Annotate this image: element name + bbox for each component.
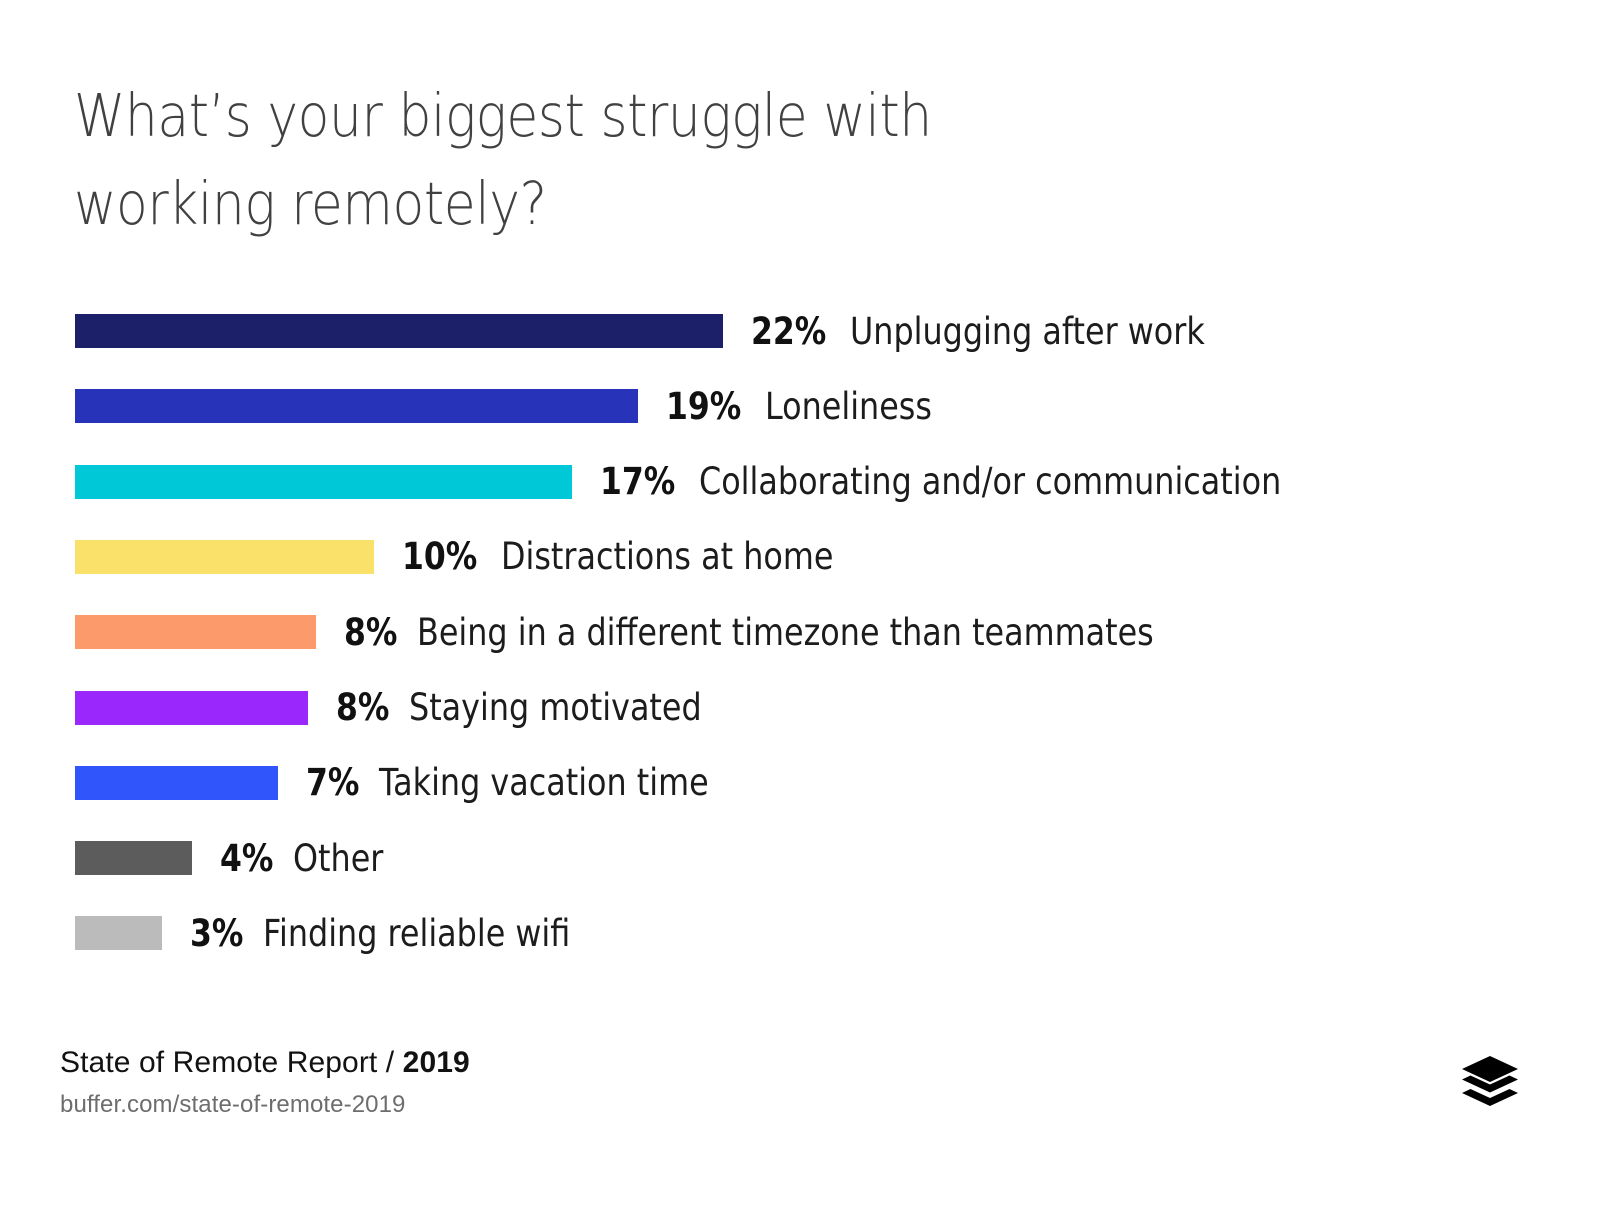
bar-category-label: Being in a different timezone than teamm… — [417, 611, 1154, 654]
bar-fill — [75, 841, 192, 875]
report-name: State of Remote Report / 2019 — [60, 1046, 960, 1080]
bar-chart-plot-area: 22%Unplugging after work19%Loneliness17%… — [0, 0, 1600, 1208]
bar-fill — [75, 314, 723, 348]
footer: State of Remote Report / 2019 buffer.com… — [60, 1046, 960, 1119]
bar-value-label: 3% — [190, 912, 243, 955]
bar-fill — [75, 389, 638, 423]
bar-category-label: Loneliness — [765, 385, 932, 428]
bar-category-label: Unplugging after work — [850, 310, 1205, 353]
bar-value-label: 17% — [600, 460, 675, 503]
bar-row: 7%Taking vacation time — [75, 766, 762, 800]
bar-row: 4%Other — [75, 841, 398, 875]
bar-row: 3%Finding reliable wifi — [75, 916, 620, 950]
bar-value-label: 8% — [336, 686, 389, 729]
bar-row: 22%Unplugging after work — [75, 314, 1262, 348]
report-year: 2019 — [403, 1046, 470, 1079]
bar-category-label: Taking vacation time — [379, 761, 709, 804]
bar-value-label: 8% — [344, 611, 397, 654]
bar-category-label: Finding reliable wifi — [263, 912, 570, 955]
report-url[interactable]: buffer.com/state-of-remote-2019 — [60, 1091, 960, 1119]
bar-row: 8%Being in a different timezone than tea… — [75, 615, 1274, 649]
chart-canvas: What’s your biggest struggle with workin… — [0, 0, 1600, 1208]
bar-value-label: 22% — [751, 310, 826, 353]
bar-fill — [75, 615, 316, 649]
bar-value-label: 7% — [306, 761, 359, 804]
report-name-prefix: State of Remote Report / — [60, 1046, 403, 1079]
bar-row: 8%Staying motivated — [75, 691, 749, 725]
bar-category-label: Collaborating and/or communication — [699, 460, 1281, 503]
bar-row: 19%Loneliness — [75, 389, 959, 423]
bar-row: 17%Collaborating and/or communication — [75, 465, 1376, 499]
bar-fill — [75, 916, 162, 950]
bar-value-label: 19% — [666, 385, 741, 428]
bar-row: 10%Distractions at home — [75, 540, 887, 574]
bar-fill — [75, 465, 572, 499]
bar-category-label: Other — [293, 837, 383, 880]
bar-fill — [75, 540, 374, 574]
bar-fill — [75, 766, 278, 800]
bar-fill — [75, 691, 308, 725]
bar-category-label: Distractions at home — [501, 535, 833, 578]
buffer-layers-logo — [1462, 1056, 1518, 1108]
bar-value-label: 4% — [220, 837, 273, 880]
bar-value-label: 10% — [402, 535, 477, 578]
bar-category-label: Staying motivated — [409, 686, 702, 729]
